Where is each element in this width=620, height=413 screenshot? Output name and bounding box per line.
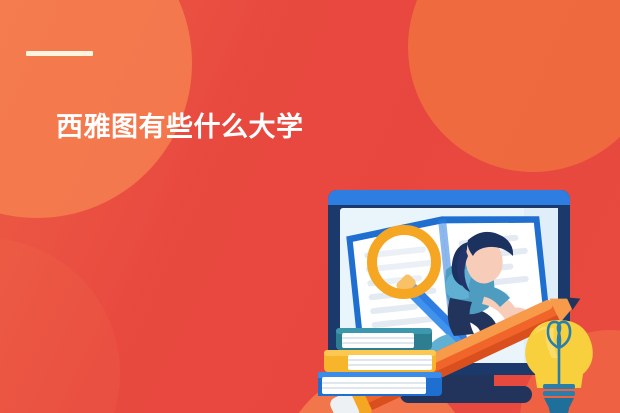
- page-title: 西雅图有些什么大学: [56, 111, 304, 145]
- book-stack-icon: [318, 328, 442, 396]
- poster-canvas: 西雅图有些什么大学: [0, 0, 620, 413]
- student-research-illustration: [318, 186, 620, 413]
- title-divider-rule: [26, 51, 93, 56]
- lightbulb-icon: [525, 320, 593, 413]
